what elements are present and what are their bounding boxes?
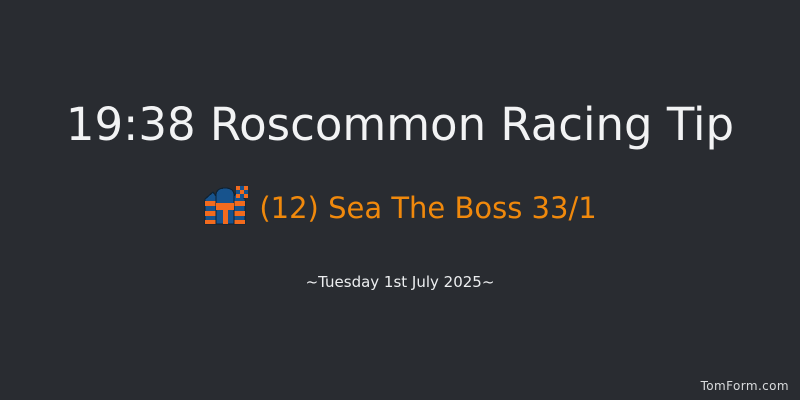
- page-title: 19:38 Roscommon Racing Tip: [0, 99, 800, 151]
- tip-selection-text: (12) Sea The Boss 33/1: [259, 191, 596, 225]
- jockey-silks-icon: [203, 183, 249, 230]
- racing-tip-card: 19:38 Roscommon Racing Tip: [0, 0, 800, 400]
- race-date: ~Tuesday 1st July 2025~: [0, 272, 800, 292]
- tip-row: (12) Sea The Boss 33/1: [0, 183, 800, 230]
- site-watermark: TomForm.com: [701, 378, 789, 394]
